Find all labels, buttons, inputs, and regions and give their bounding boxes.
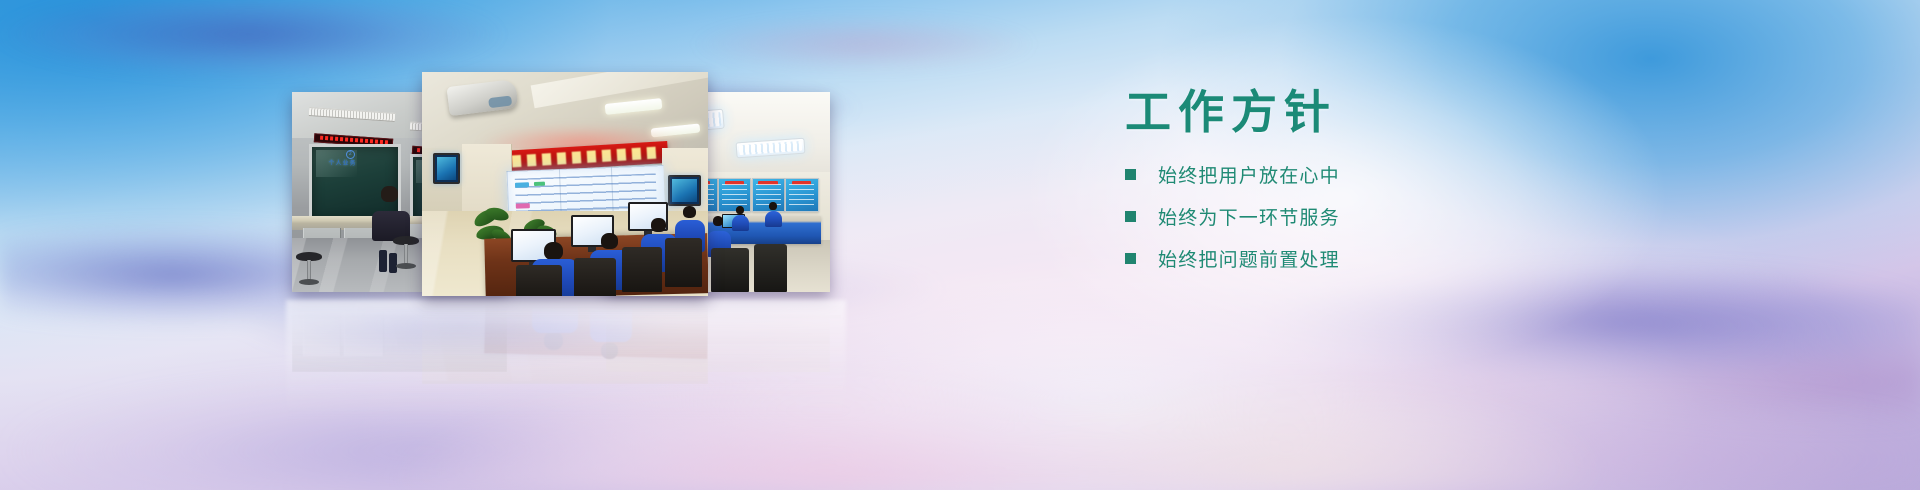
page-title: 工作方针	[1125, 86, 1730, 139]
banner-text-panel: 工作方针 始终把用户放在心中 始终为下一环节服务 始终把问题前置处理	[1110, 86, 1730, 287]
policy-bullet-list: 始终把用户放在心中 始终为下一环节服务 始终把问题前置处理	[1125, 161, 1730, 272]
list-item: 始终把用户放在心中	[1125, 161, 1730, 188]
hero-banner: 个人业务 对公业务 2	[0, 0, 1920, 490]
square-bullet-icon	[1125, 169, 1136, 180]
square-bullet-icon	[1125, 253, 1136, 264]
list-item-label: 始终把问题前置处理	[1158, 245, 1340, 272]
power-dispatch-control-room-photo	[422, 72, 708, 296]
photo-collage: 个人业务 对公业务 2	[286, 72, 836, 312]
list-item-label: 始终把用户放在心中	[1158, 161, 1340, 188]
list-item: 始终为下一环节服务	[1125, 203, 1730, 230]
list-item-label: 始终为下一环节服务	[1158, 203, 1340, 230]
square-bullet-icon	[1125, 211, 1136, 222]
power-dispatch-control-room-photo-reflection	[422, 296, 708, 384]
list-item: 始终把问题前置处理	[1125, 245, 1730, 272]
